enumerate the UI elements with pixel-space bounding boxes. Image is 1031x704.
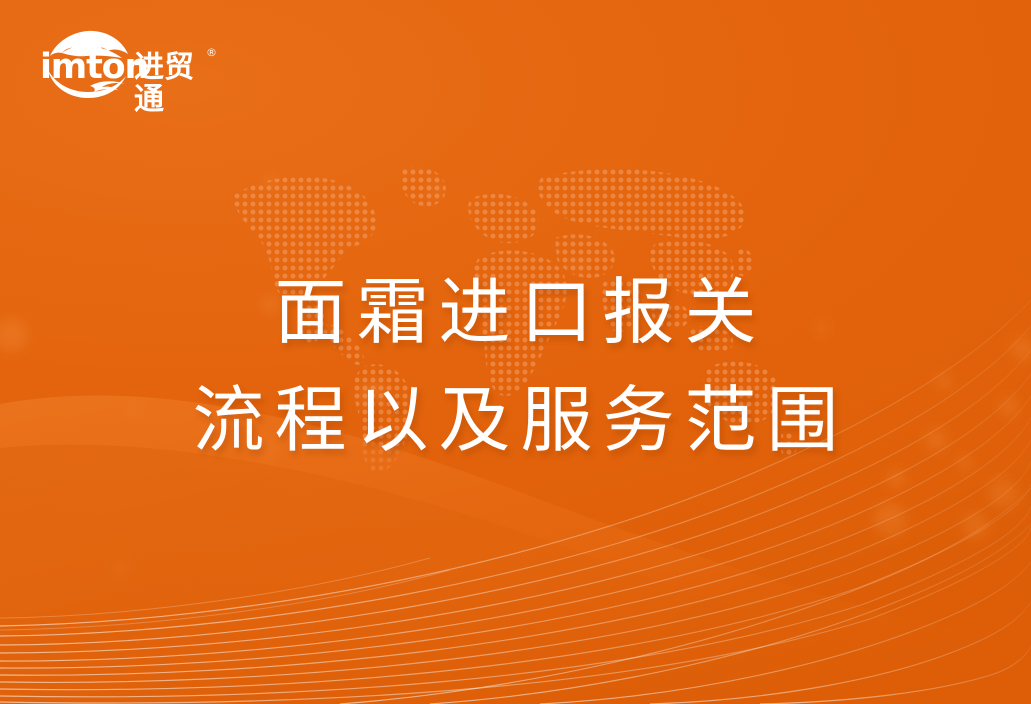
logo-chinese-name: 进贸通 xyxy=(134,52,214,116)
brand-logo[interactable]: imton 进贸通 ® xyxy=(38,26,214,102)
title-line-2: 流程以及服务范围 xyxy=(0,366,1031,474)
logo-wordmark: imton xyxy=(40,50,148,85)
title-line-1: 面霜进口报关 xyxy=(0,258,1031,366)
poster-canvas: imton 进贸通 ® 面霜进口报关 流程以及服务范围 xyxy=(0,0,1031,704)
page-title: 面霜进口报关 流程以及服务范围 xyxy=(0,258,1031,474)
trademark-icon: ® xyxy=(206,46,217,59)
